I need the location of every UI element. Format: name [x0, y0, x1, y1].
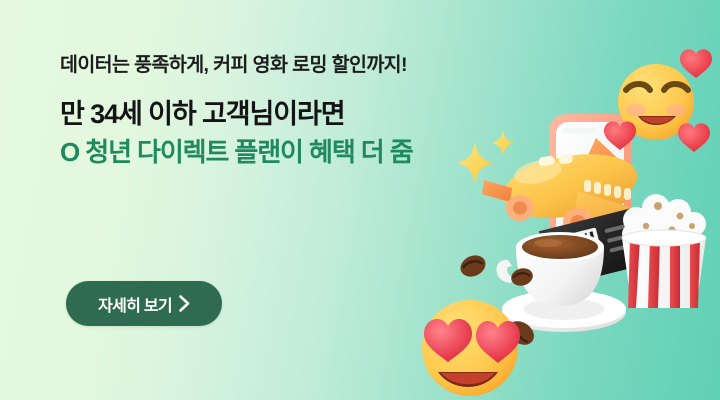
- chevron-right-icon: [179, 295, 190, 312]
- movie-ticket-icon: [537, 205, 647, 295]
- coffee-bean-icon: [458, 252, 488, 280]
- heart-eyes-emoji: [412, 288, 534, 400]
- sparkles-icon: [455, 128, 521, 190]
- view-details-button[interactable]: 자세히 보기: [66, 281, 222, 326]
- promo-headline: 만 34세 이하 고객님이라면: [60, 97, 413, 132]
- coffee-bean-icon: [505, 318, 537, 348]
- airplane-icon: [478, 130, 676, 248]
- winking-face-emoji: [600, 42, 718, 160]
- promo-eyebrow: 데이터는 풍족하게, 커피 영화 로밍 할인까지!: [60, 54, 413, 77]
- view-details-label: 자세히 보기: [98, 292, 172, 316]
- promo-copy: 데이터는 풍족하게, 커피 영화 로밍 할인까지! 만 34세 이하 고객님이라…: [60, 54, 413, 169]
- promo-subline: O 청년 다이렉트 플랜이 혜택 더 줌: [60, 136, 413, 169]
- coffee-bean-icon: [509, 265, 535, 289]
- popcorn-bucket-icon: [606, 176, 718, 312]
- coffee-cup-icon: [480, 216, 640, 336]
- promo-banner: 데이터는 풍족하게, 커피 영화 로밍 할인까지! 만 34세 이하 고객님이라…: [0, 0, 720, 400]
- smartphone-icon: [545, 110, 635, 270]
